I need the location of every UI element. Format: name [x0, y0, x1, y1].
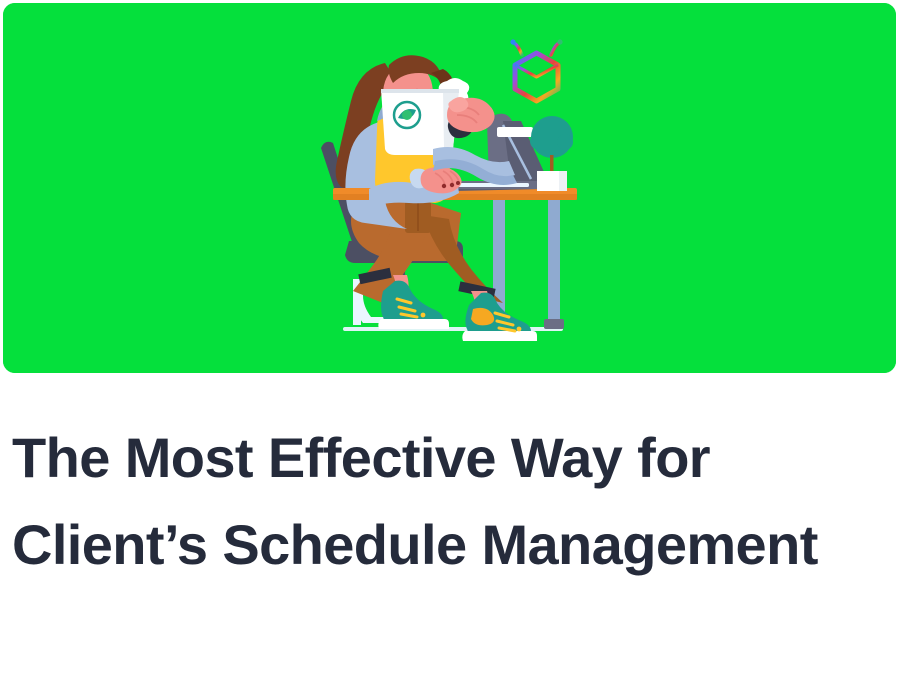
page-title: The Most Effective Way for Client’s Sche… — [12, 414, 872, 588]
blog-card-page: The Most Effective Way for Client’s Sche… — [0, 0, 899, 687]
hero-illustration — [3, 3, 896, 373]
coffee-cup — [381, 89, 459, 155]
hero-image-card[interactable] — [3, 3, 896, 373]
